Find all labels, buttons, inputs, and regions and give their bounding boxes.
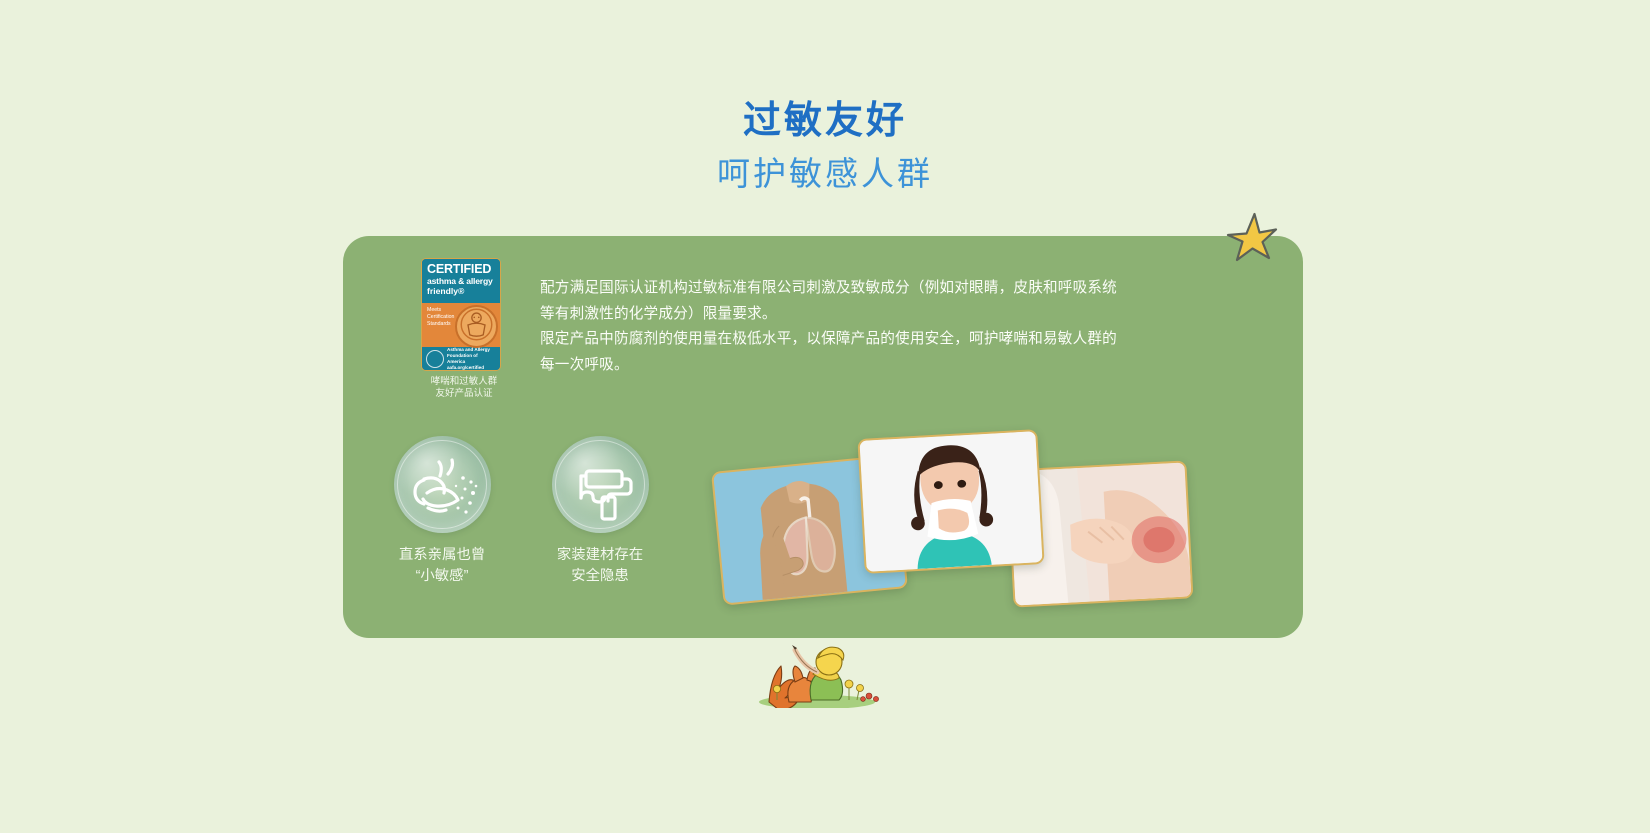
description-line-1: 配方满足国际认证机构过敏标准有限公司刺激及致敏成分（例如对眼睛，皮肤和呼吸系统 — [540, 276, 1190, 302]
feature-label-family: 直系亲属也曾 “小敏感” — [390, 545, 494, 587]
feature-label-family-line1: 直系亲属也曾 — [390, 545, 494, 566]
badge-footer-line3: aafa.org/certified — [447, 365, 496, 371]
page-root: 过敏友好 呵护敏感人群 CERTIFIED asthma & allergy f… — [0, 0, 1650, 833]
badge-top-section: CERTIFIED asthma & allergy friendly® — [422, 259, 500, 303]
description-line-3: 限定产品中防腐剂的使用量在极低水平，以保障产品的使用安全，呵护哮喘和易敏人群的 — [540, 327, 1190, 353]
badge-caption: 哮喘和过敏人群 友好产品认证 — [421, 376, 507, 400]
certification-badge-wrap: CERTIFIED asthma & allergy friendly® Mee… — [421, 258, 507, 400]
badge-caption-line2: 友好产品认证 — [421, 388, 507, 400]
badge-middle-section: Meets Certification Standards — [422, 303, 500, 347]
description-line-2: 等有刺激性的化学成分）限量要求。 — [540, 302, 1190, 328]
feature-label-materials: 家装建材存在 安全隐患 — [548, 545, 652, 587]
badge-asthma-allergy-text: asthma & allergy — [427, 276, 495, 286]
little-prince-fox-illustration — [745, 636, 890, 708]
badge-certified-text: CERTIFIED — [427, 263, 495, 276]
badge-caption-line1: 哮喘和过敏人群 — [421, 376, 507, 388]
page-title: 过敏友好 — [0, 98, 1650, 144]
asthma-allergy-friendly-badge: CERTIFIED asthma & allergy friendly® Mee… — [421, 258, 501, 371]
badge-friendly-text: friendly® — [427, 286, 495, 296]
description-paragraph: 配方满足国际认证机构过敏标准有限公司刺激及致敏成分（例如对眼睛，皮肤和呼吸系统 … — [540, 276, 1190, 378]
sneezing-person-allergen-icon — [394, 436, 491, 533]
description-line-4: 每一次呼吸。 — [540, 353, 1190, 379]
girl-sneezing-photo — [857, 429, 1044, 574]
star-icon — [1224, 210, 1280, 266]
feature-label-materials-line1: 家装建材存在 — [548, 545, 652, 566]
feature-item-family-allergy: 直系亲属也曾 “小敏感” — [390, 436, 494, 587]
allergy-friendly-card: CERTIFIED asthma & allergy friendly® Mee… — [343, 236, 1303, 638]
badge-footer-line2: Foundation of America — [447, 353, 496, 365]
photo-collage — [713, 401, 1203, 586]
feature-list: 直系亲属也曾 “小敏感” — [390, 436, 652, 587]
feature-label-family-line2: “小敏感” — [390, 566, 494, 587]
feature-item-home-materials: 家装建材存在 安全隐患 — [548, 436, 652, 587]
badge-bottom-section: Asthma and Allergy Foundation of America… — [422, 347, 500, 370]
page-subtitle: 呵护敏感人群 — [0, 150, 1650, 198]
heading-block: 过敏友好 呵护敏感人群 — [0, 98, 1650, 198]
badge-seal-icon — [455, 305, 498, 348]
paint-roller-icon — [552, 436, 649, 533]
feature-label-materials-line2: 安全隐患 — [548, 566, 652, 587]
aafa-logo-icon — [426, 350, 444, 368]
